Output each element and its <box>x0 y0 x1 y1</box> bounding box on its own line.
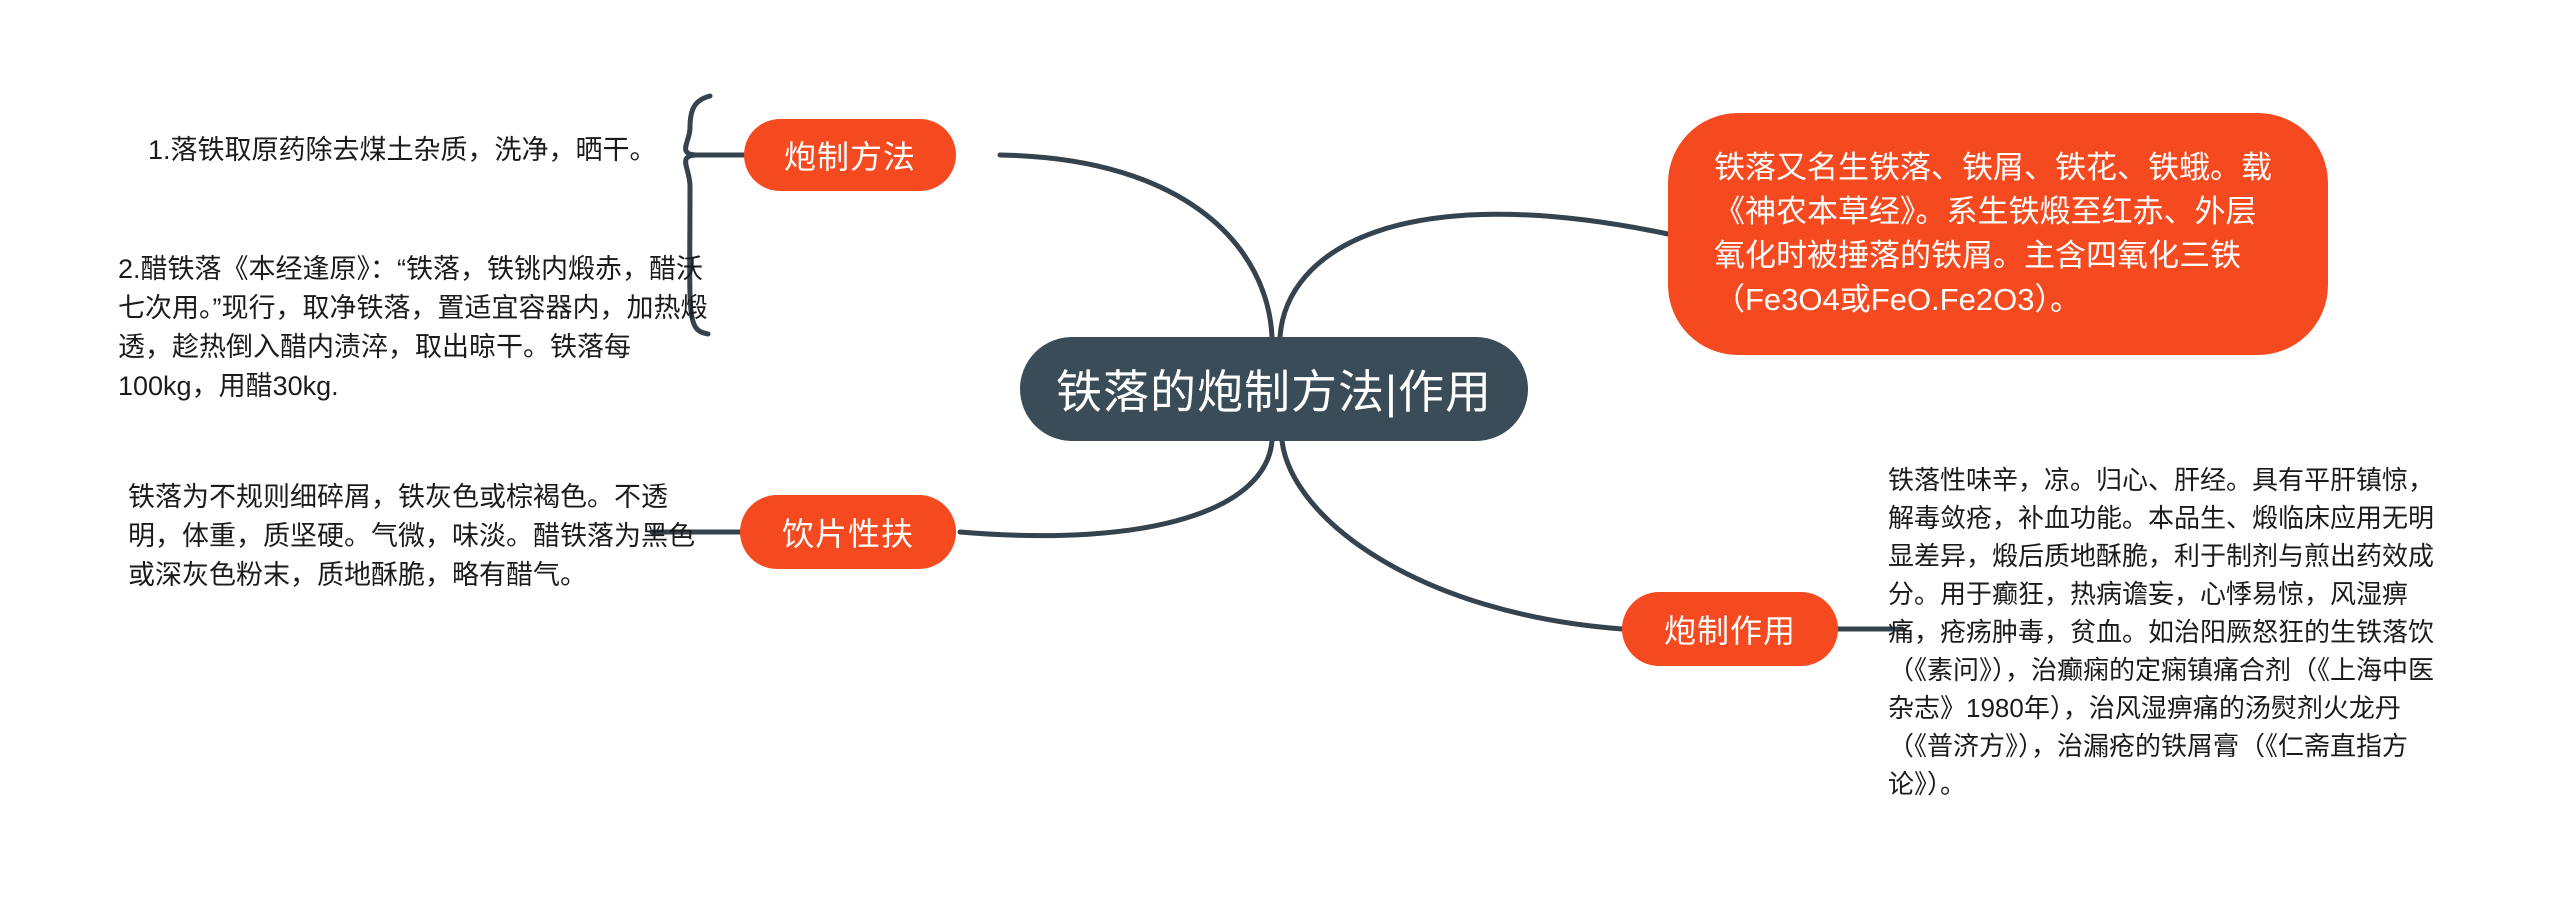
connector-root-to-paozhi-fangfa <box>1000 155 1272 337</box>
leaf-card-tieluo-alias[interactable]: 铁落又名生铁落、铁屑、铁花、铁蛾。载《神农本草经》。系生铁煅至红赤、外层氧化时被… <box>1668 113 2328 355</box>
mindmap-canvas: 铁落的炮制方法|作用 炮制方法 饮片性扶 炮制作用 铁落又名生铁落、铁屑、铁花、… <box>0 0 2560 901</box>
leaf-card-tieluo-alias-text: 铁落又名生铁落、铁屑、铁花、铁蛾。载《神农本草经》。系生铁煅至红赤、外层氧化时被… <box>1714 146 2282 322</box>
connector-root-to-alias-card <box>1280 214 1668 337</box>
connector-root-to-yinpian-xingfu <box>960 441 1272 536</box>
leaf-text-step-2: 2.醋铁落《本经逢原》：“铁落，铁铫内煅赤，醋沃七次用。”现行，取净铁落，置适宜… <box>118 250 718 406</box>
connector-root-to-paozhi-zuoyong <box>1282 441 1622 629</box>
branch-node-paozhi-fangfa[interactable]: 炮制方法 <box>744 119 956 191</box>
branch-node-paozhi-zuoyong[interactable]: 炮制作用 <box>1622 592 1838 666</box>
root-node[interactable]: 铁落的炮制方法|作用 <box>1020 337 1528 441</box>
leaf-text-step-1: 1.落铁取原药除去煤土杂质，洗净，晒干。 <box>148 131 718 170</box>
leaf-text-character: 铁落为不规则细碎屑，铁灰色或棕褐色。不透明，体重，质坚硬。气微，味淡。醋铁落为黑… <box>128 478 718 595</box>
branch-label-paozhi-zuoyong: 炮制作用 <box>1664 606 1796 652</box>
branch-label-paozhi-fangfa: 炮制方法 <box>784 132 916 178</box>
branch-node-yinpian-xingfu[interactable]: 饮片性扶 <box>740 495 956 569</box>
root-node-label: 铁落的炮制方法|作用 <box>1056 356 1492 422</box>
branch-label-yinpian-xingfu: 饮片性扶 <box>782 509 914 555</box>
leaf-text-function: 铁落性味辛，凉。归心、肝经。具有平肝镇惊，解毒敛疮，补血功能。本品生、煅临床应用… <box>1888 462 2458 804</box>
